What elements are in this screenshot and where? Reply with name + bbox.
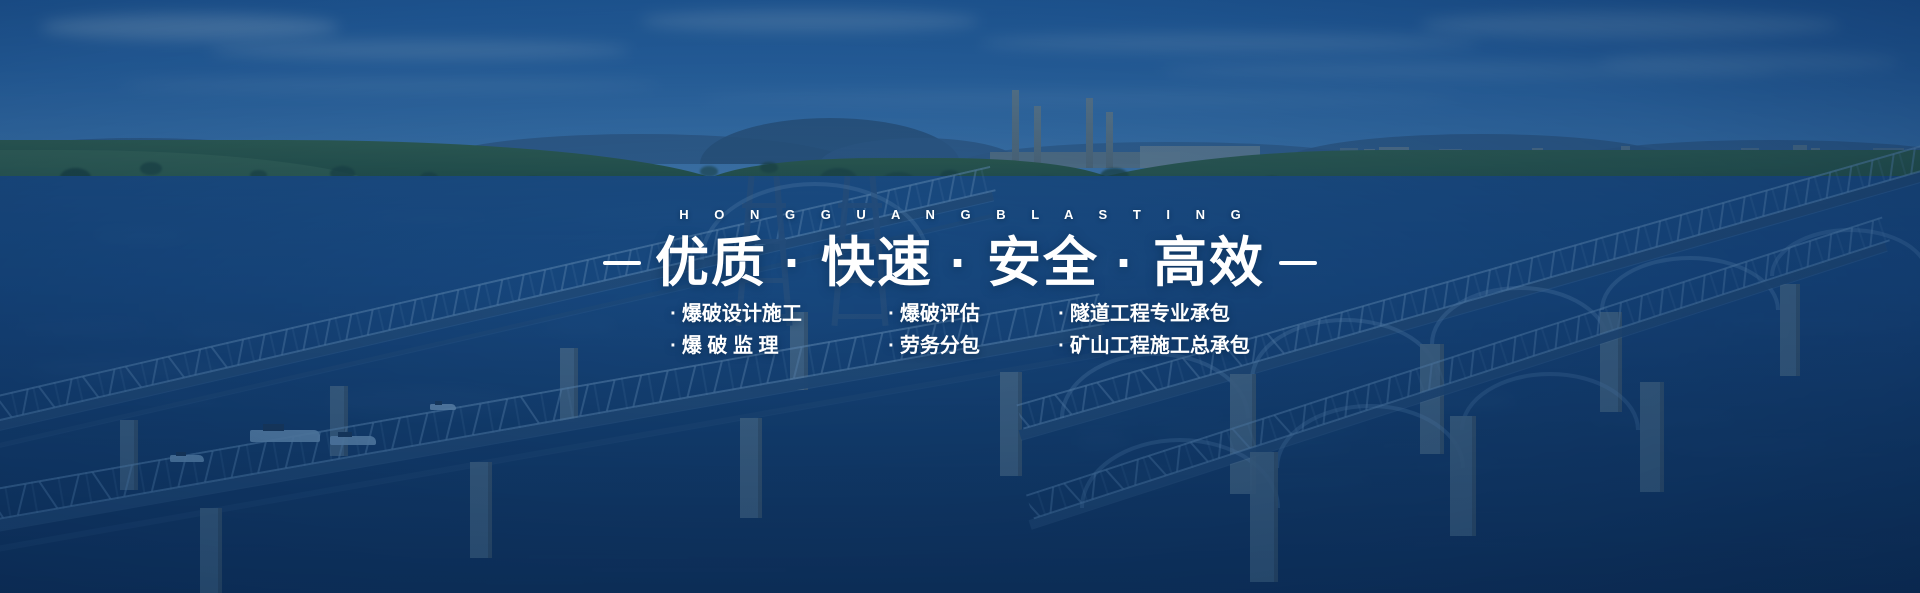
service-item: ·矿山工程施工总承包 [1058, 334, 1250, 358]
service-label: 隧道工程专业承包 [1070, 303, 1230, 325]
bullet-icon: · [888, 335, 895, 357]
service-label: 爆破设计施工 [682, 303, 802, 325]
service-item: ·劳务分包 [888, 334, 1058, 358]
service-label: 爆 破 监 理 [682, 335, 779, 357]
headline-rule-left [603, 261, 641, 265]
service-label: 劳务分包 [900, 335, 980, 357]
service-item: ·爆 破 监 理 [670, 334, 888, 358]
service-item: ·爆破设计施工 [670, 302, 888, 326]
bullet-icon: · [670, 335, 677, 357]
banner-eyebrow-english: H O N G G U A N G B L A S T I N G [668, 208, 1251, 221]
headline-rule-right [1279, 261, 1317, 265]
bullet-icon: · [1058, 335, 1065, 357]
bullet-icon: · [888, 303, 895, 325]
service-list: ·爆破设计施工 ·爆破评估 ·隧道工程专业承包 ·爆 破 监 理 ·劳务分包 ·… [670, 302, 1250, 358]
headline-text: 优质 · 快速 · 安全 · 高效 [655, 233, 1265, 293]
service-label: 矿山工程施工总承包 [1070, 335, 1250, 357]
service-item: ·隧道工程专业承包 [1058, 302, 1230, 326]
bullet-icon: · [1058, 303, 1065, 325]
service-item: ·爆破评估 [888, 302, 1058, 326]
service-label: 爆破评估 [900, 303, 980, 325]
service-row-2: ·爆 破 监 理 ·劳务分包 ·矿山工程施工总承包 [670, 334, 1250, 358]
service-row-1: ·爆破设计施工 ·爆破评估 ·隧道工程专业承包 [670, 302, 1250, 326]
bullet-icon: · [670, 303, 677, 325]
hero-banner: H O N G G U A N G B L A S T I N G 优质 · 快… [0, 0, 1920, 593]
banner-copy: H O N G G U A N G B L A S T I N G 优质 · 快… [0, 0, 1920, 593]
banner-headline: 优质 · 快速 · 安全 · 高效 [603, 233, 1317, 293]
